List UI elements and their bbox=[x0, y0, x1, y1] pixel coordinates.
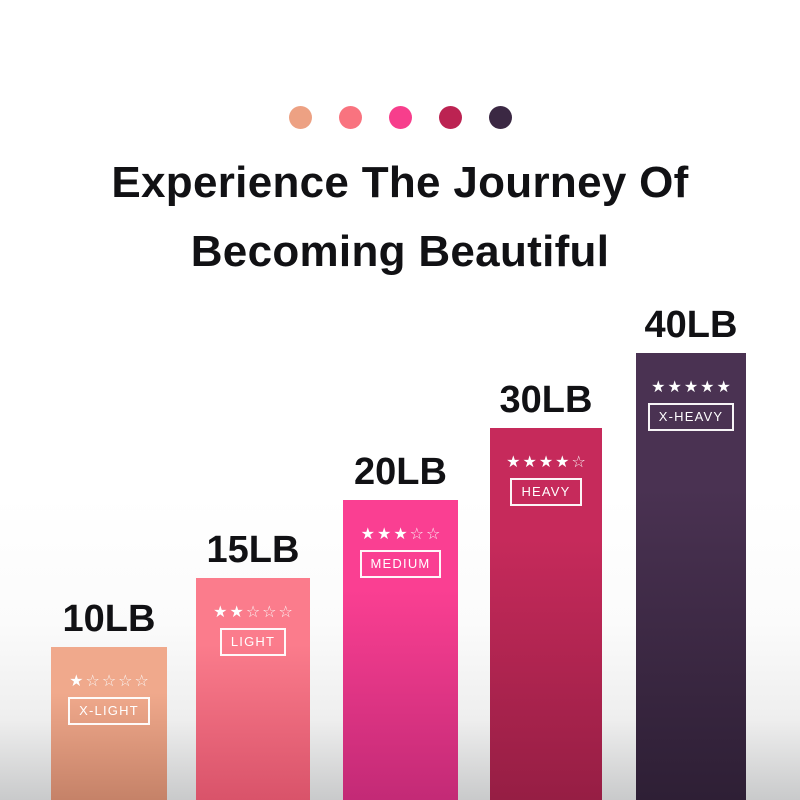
bar-group-x-heavy: ★★★★★X-HEAVY40LB bbox=[636, 293, 746, 800]
star-empty-icon: ☆ bbox=[102, 673, 116, 691]
star-empty-icon: ☆ bbox=[572, 454, 586, 472]
star-filled-icon: ★ bbox=[717, 379, 731, 397]
level-label: MEDIUM bbox=[360, 550, 442, 578]
star-filled-icon: ★ bbox=[393, 526, 407, 544]
star-filled-icon: ★ bbox=[651, 379, 665, 397]
bar-x-light[interactable]: ★☆☆☆☆X-LIGHT bbox=[51, 647, 167, 800]
rating-stars: ★☆☆☆☆ bbox=[69, 673, 149, 691]
rating-stars: ★★★★☆ bbox=[506, 454, 586, 472]
badge-x-heavy: ★★★★★X-HEAVY bbox=[636, 379, 746, 431]
rating-stars: ★★☆☆☆ bbox=[213, 604, 293, 622]
weight-label-x-heavy: 40LB bbox=[645, 306, 738, 344]
badge-medium: ★★★☆☆MEDIUM bbox=[343, 526, 458, 578]
resistance-bar-chart: ★☆☆☆☆X-LIGHT10LB★★☆☆☆LIGHT15LB★★★☆☆MEDIU… bbox=[0, 0, 800, 800]
star-empty-icon: ☆ bbox=[410, 526, 424, 544]
star-filled-icon: ★ bbox=[700, 379, 714, 397]
level-label: LIGHT bbox=[220, 628, 286, 656]
level-label: HEAVY bbox=[510, 478, 581, 506]
star-empty-icon: ☆ bbox=[118, 673, 132, 691]
star-empty-icon: ☆ bbox=[262, 604, 276, 622]
star-filled-icon: ★ bbox=[667, 379, 681, 397]
level-label: X-LIGHT bbox=[68, 697, 150, 725]
bar-group-light: ★★☆☆☆LIGHT15LB bbox=[196, 518, 310, 800]
bar-group-heavy: ★★★★☆HEAVY30LB bbox=[490, 368, 602, 800]
star-empty-icon: ☆ bbox=[426, 526, 440, 544]
weight-label-medium: 20LB bbox=[354, 453, 447, 491]
star-filled-icon: ★ bbox=[506, 454, 520, 472]
bar-group-x-light: ★☆☆☆☆X-LIGHT10LB bbox=[51, 587, 167, 800]
bar-light[interactable]: ★★☆☆☆LIGHT bbox=[196, 578, 310, 800]
star-filled-icon: ★ bbox=[213, 604, 227, 622]
poster-canvas: Experience The Journey Of Becoming Beaut… bbox=[0, 0, 800, 800]
star-filled-icon: ★ bbox=[69, 673, 83, 691]
rating-stars: ★★★★★ bbox=[651, 379, 731, 397]
star-filled-icon: ★ bbox=[684, 379, 698, 397]
weight-label-x-light: 10LB bbox=[63, 600, 156, 638]
badge-heavy: ★★★★☆HEAVY bbox=[490, 454, 602, 506]
star-filled-icon: ★ bbox=[361, 526, 375, 544]
star-filled-icon: ★ bbox=[555, 454, 569, 472]
star-filled-icon: ★ bbox=[539, 454, 553, 472]
bar-medium[interactable]: ★★★☆☆MEDIUM bbox=[343, 500, 458, 800]
badge-light: ★★☆☆☆LIGHT bbox=[196, 604, 310, 656]
bar-x-heavy[interactable]: ★★★★★X-HEAVY bbox=[636, 353, 746, 800]
badge-x-light: ★☆☆☆☆X-LIGHT bbox=[51, 673, 167, 725]
bar-heavy[interactable]: ★★★★☆HEAVY bbox=[490, 428, 602, 800]
star-empty-icon: ☆ bbox=[246, 604, 260, 622]
star-filled-icon: ★ bbox=[229, 604, 243, 622]
star-empty-icon: ☆ bbox=[85, 673, 99, 691]
level-label: X-HEAVY bbox=[648, 403, 735, 431]
weight-label-light: 15LB bbox=[207, 531, 300, 569]
star-filled-icon: ★ bbox=[377, 526, 391, 544]
star-empty-icon: ☆ bbox=[135, 673, 149, 691]
star-filled-icon: ★ bbox=[522, 454, 536, 472]
weight-label-heavy: 30LB bbox=[500, 381, 593, 419]
star-empty-icon: ☆ bbox=[279, 604, 293, 622]
bar-group-medium: ★★★☆☆MEDIUM20LB bbox=[343, 440, 458, 800]
rating-stars: ★★★☆☆ bbox=[361, 526, 441, 544]
